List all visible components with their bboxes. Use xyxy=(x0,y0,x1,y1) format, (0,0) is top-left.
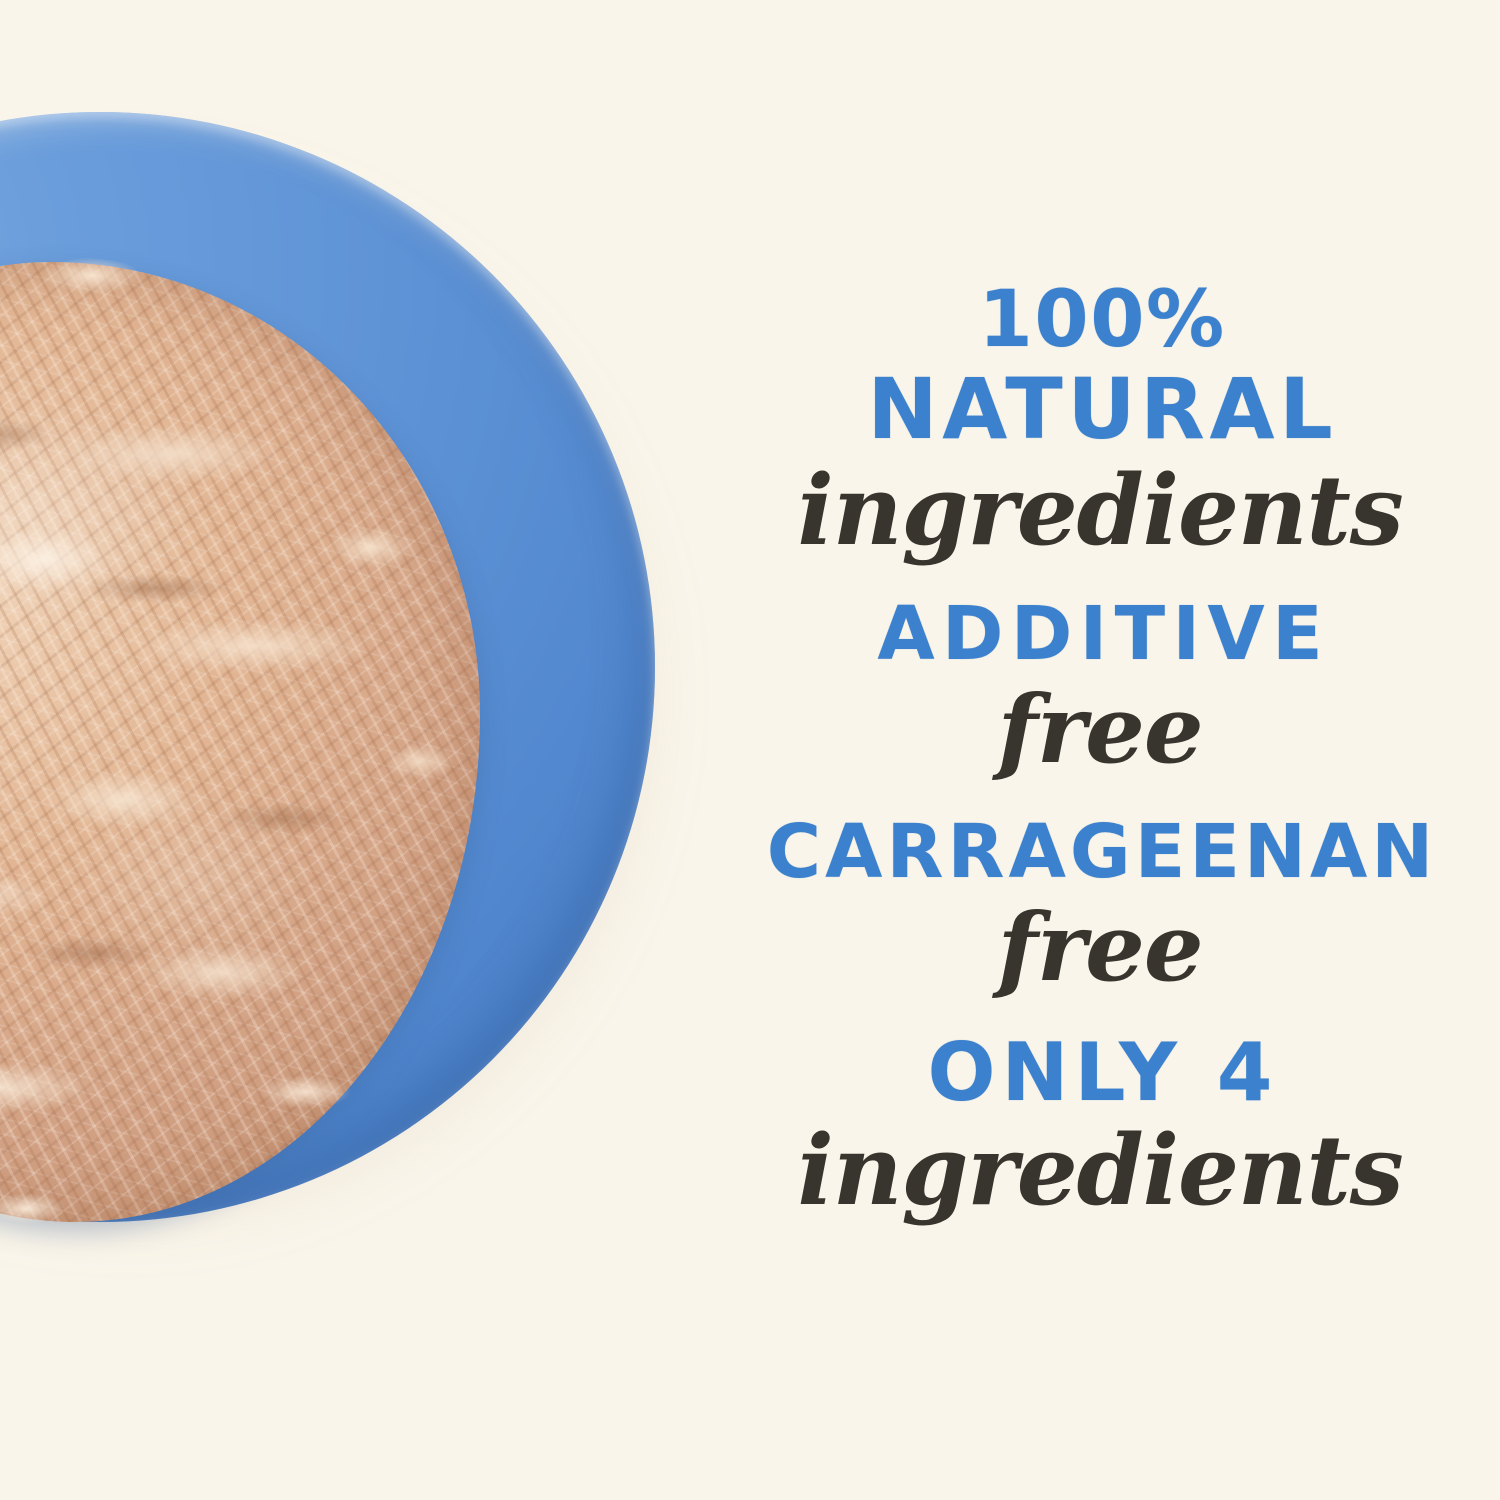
claim-only4-script: ingredients xyxy=(700,1123,1500,1219)
claim-only4-line-1: ONLY 4 xyxy=(700,1033,1500,1113)
shredded-chicken-mound xyxy=(0,262,480,1222)
claim-carrageenan-script: free xyxy=(700,901,1500,995)
claim-natural: 100% NATURAL ingredients xyxy=(700,281,1500,559)
claim-additive-free: ADDITIVE free xyxy=(700,597,1500,777)
claim-carrageenan-line-1: CARRAGEENAN xyxy=(700,815,1500,889)
claim-additive-line-1: ADDITIVE xyxy=(700,597,1500,671)
food-portion xyxy=(0,262,480,1222)
claim-natural-line-1: 100% xyxy=(700,281,1500,359)
product-benefits-panel: 100% NATURAL ingredients ADDITIVE free C… xyxy=(0,0,1500,1500)
claim-carrageenan-free: CARRAGEENAN free xyxy=(700,815,1500,995)
product-photo xyxy=(0,0,760,1500)
claims-list: 100% NATURAL ingredients ADDITIVE free C… xyxy=(700,0,1500,1500)
claim-additive-script: free xyxy=(700,683,1500,777)
claim-only-4-ingredients: ONLY 4 ingredients xyxy=(700,1033,1500,1219)
claim-natural-script: ingredients xyxy=(700,463,1500,559)
claim-natural-line-2: NATURAL xyxy=(700,367,1500,451)
